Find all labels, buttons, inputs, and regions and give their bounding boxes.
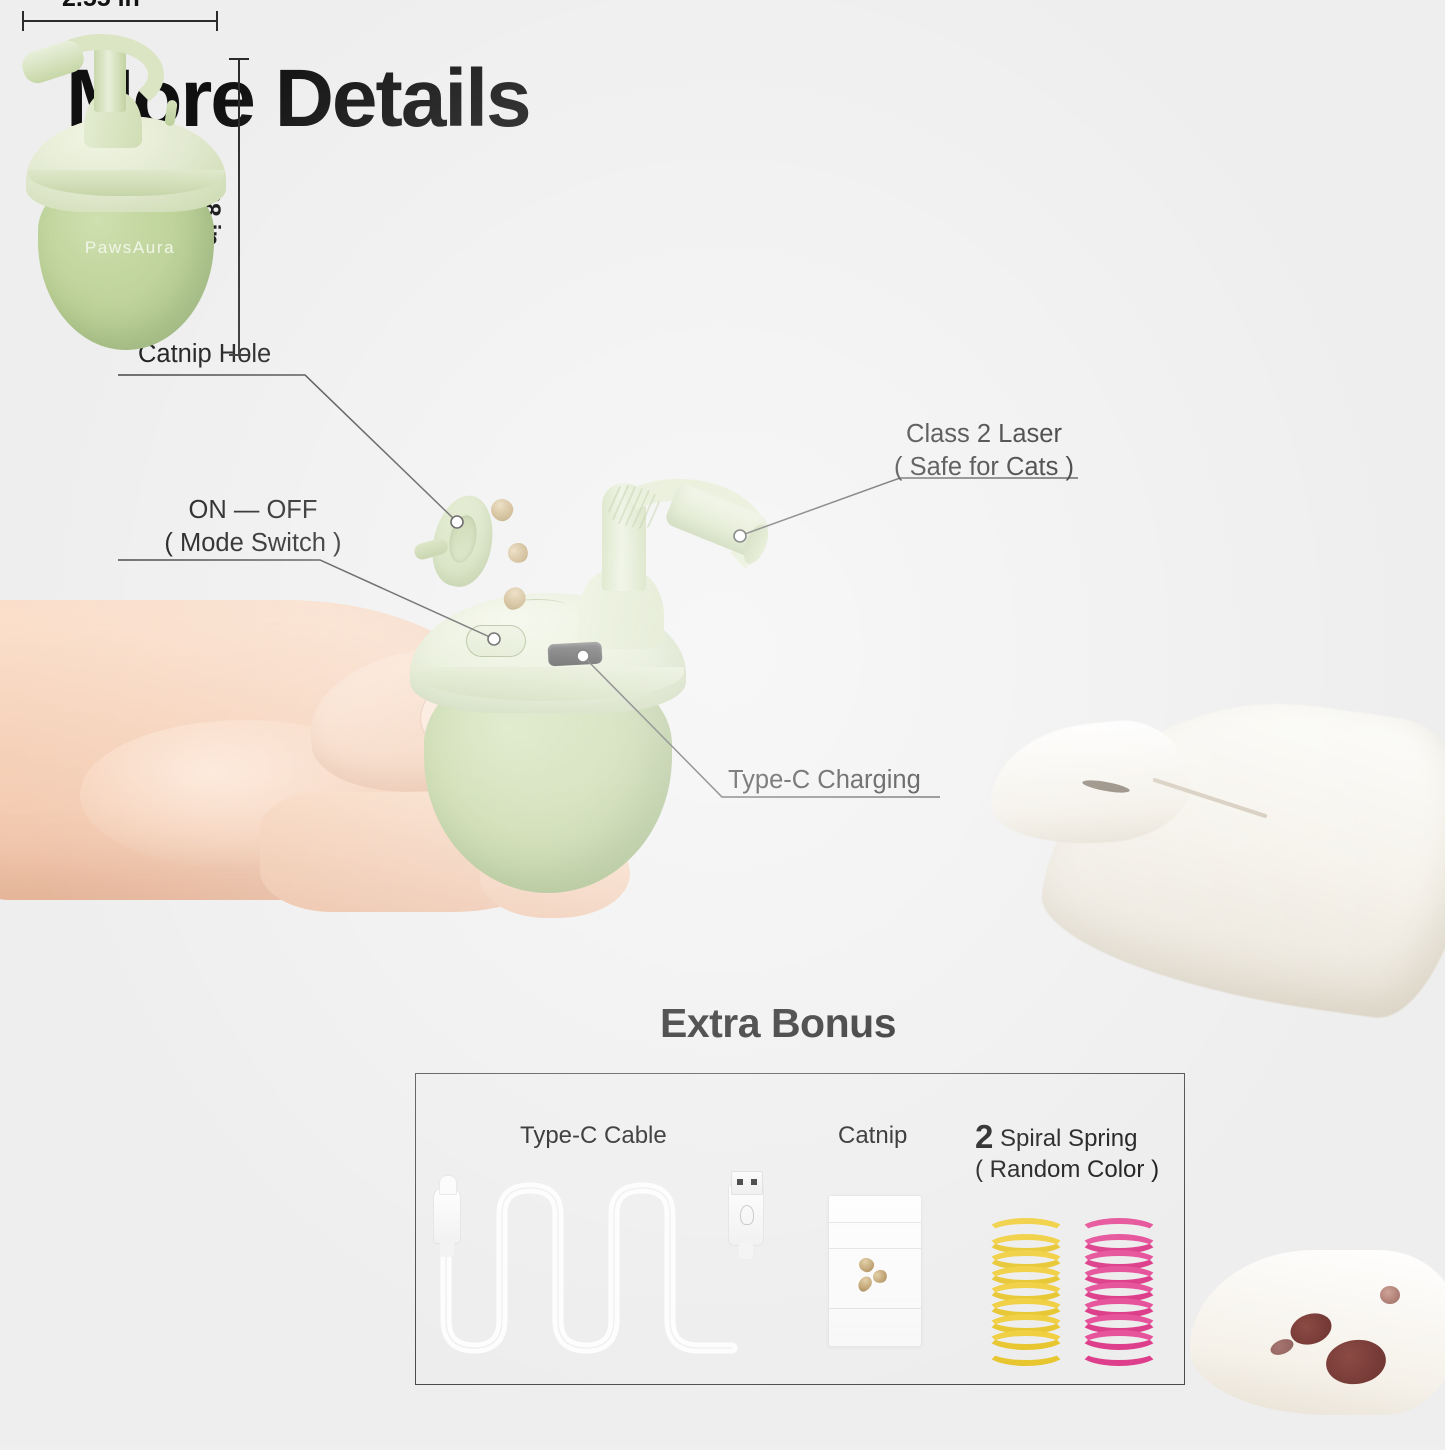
width-dimension-label: 2.55 in	[62, 0, 140, 13]
callout-mode-switch-line2: ( Mode Switch )	[128, 527, 378, 560]
spiral-spring-count: 2	[975, 1118, 993, 1155]
bag-crease	[829, 1308, 921, 1309]
cat-paw-upper	[990, 700, 1445, 1120]
bonus-label-spiral-spring: 2 Spiral Spring ( Random Color )	[975, 1118, 1159, 1184]
catnip-seed	[857, 1256, 876, 1274]
callout-laser: Class 2 Laser ( Safe for Cats )	[890, 418, 1078, 483]
spiral-spring-yellow	[985, 1218, 1055, 1358]
callout-type-c-charging: Type-C Charging	[728, 764, 921, 797]
catnip-seed	[871, 1268, 889, 1285]
spiral-spring-text: Spiral Spring	[993, 1125, 1137, 1152]
mode-switch-control[interactable]	[466, 625, 526, 657]
brand-logo-text: PawsAura	[62, 238, 198, 258]
callout-laser-line1: Class 2 Laser	[890, 418, 1078, 451]
usb-trident-icon	[740, 1205, 754, 1225]
usb-cable-illustration	[420, 1180, 780, 1380]
cat-paw-lower	[1190, 1240, 1445, 1450]
callout-mode-switch-line1: ON — OFF	[128, 494, 378, 527]
catnip-pellet	[488, 496, 516, 524]
spiral-spring-line2: ( Random Color )	[975, 1156, 1159, 1184]
catnip-seed	[856, 1274, 875, 1294]
bonus-section-title: Extra Bonus	[660, 1000, 896, 1047]
usb-c-connector	[433, 1186, 461, 1244]
width-dimension-bar	[22, 20, 218, 22]
mini-catnip-nub	[164, 99, 178, 126]
bonus-label-type-c-cable: Type-C Cable	[520, 1122, 667, 1150]
bonus-label-catnip: Catnip	[838, 1122, 907, 1150]
catnip-bag	[828, 1195, 922, 1347]
callout-mode-switch: ON — OFF ( Mode Switch )	[128, 494, 378, 559]
height-dimension-bar	[238, 58, 240, 356]
spring-coil	[985, 1337, 1067, 1366]
spring-coil	[1078, 1337, 1160, 1366]
callout-laser-line2: ( Safe for Cats )	[890, 451, 1078, 484]
bag-crease	[829, 1222, 921, 1223]
cat-claw	[1380, 1286, 1400, 1304]
usb-a-connector	[728, 1184, 764, 1246]
type-c-port	[547, 642, 602, 667]
bag-crease	[829, 1248, 921, 1249]
catnip-pellet	[505, 540, 531, 566]
usb-a-contact	[751, 1179, 757, 1185]
infographic-page: More Details	[0, 0, 1445, 1445]
spiral-spring-pink	[1078, 1218, 1148, 1358]
spiral-spring-line1: 2 Spiral Spring	[975, 1118, 1159, 1156]
mini-product-illustration: PawsAura	[16, 42, 226, 354]
usb-a-metal-shell	[731, 1171, 763, 1195]
usb-a-contact	[737, 1179, 743, 1185]
main-product-illustration	[416, 485, 756, 885]
